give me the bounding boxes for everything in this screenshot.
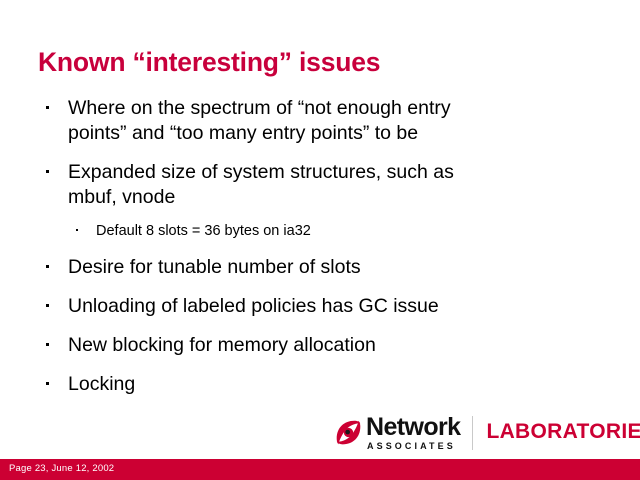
square-bullet-icon (46, 96, 49, 121)
square-bullet-icon (46, 255, 49, 280)
bullet-line: points” and “too many entry points” to b… (68, 121, 613, 146)
network-associates-wordmark: Network ASSOCIATES (366, 415, 460, 452)
bullet-text: Locking (68, 372, 613, 397)
bullet-item: Expanded size of system structures, such… (38, 160, 613, 210)
bullet-text: New blocking for memory allocation (68, 333, 613, 358)
bullet-item: Desire for tunable number of slots (38, 255, 613, 280)
footer-bar: Page 23, June 12, 2002 (0, 459, 640, 480)
bullet-line: mbuf, vnode (68, 185, 613, 210)
bullet-line: Desire for tunable number of slots (68, 255, 613, 280)
network-associates-swoosh-icon (335, 419, 362, 446)
sub-bullet-text: Default 8 slots = 36 bytes on ia32 (96, 223, 311, 239)
bullet-text: Desire for tunable number of slots (68, 255, 613, 280)
logo-divider (472, 416, 473, 450)
network-associates-logo: Network ASSOCIATES LABORATORIES (335, 412, 631, 454)
bullet-item: Where on the spectrum of “not enough ent… (38, 96, 613, 146)
square-bullet-icon (46, 160, 49, 185)
brand-word: Network (366, 415, 460, 440)
bullet-line: Locking (68, 372, 613, 397)
logo-division-label: LABORATORIES (486, 421, 640, 442)
bullet-item: New blocking for memory allocation (38, 333, 613, 358)
bullet-line: New blocking for memory allocation (68, 333, 613, 358)
bullet-item: Unloading of labeled policies has GC iss… (38, 294, 613, 319)
footer-page-info: Page 23, June 12, 2002 (9, 463, 114, 475)
sub-bullet-item: Default 8 slots = 36 bytes on ia32 (70, 221, 613, 241)
bullet-line: Expanded size of system structures, such… (68, 160, 613, 185)
bullet-text: Where on the spectrum of “not enough ent… (68, 96, 613, 146)
slide: Known “interesting” issues Where on the … (0, 0, 640, 480)
square-bullet-icon (46, 333, 49, 358)
bullet-line: Unloading of labeled policies has GC iss… (68, 294, 613, 319)
bullet-text: Expanded size of system structures, such… (68, 160, 613, 210)
bullet-text: Unloading of labeled policies has GC iss… (68, 294, 613, 319)
square-bullet-icon (46, 294, 49, 319)
square-bullet-icon (46, 372, 49, 397)
bullet-line: Where on the spectrum of “not enough ent… (68, 96, 613, 121)
page-title: Known “interesting” issues (38, 48, 608, 78)
slide-body: Where on the spectrum of “not enough ent… (38, 96, 613, 411)
square-bullet-icon (76, 221, 78, 241)
brand-subword: ASSOCIATES (366, 440, 460, 452)
bullet-item: Locking (38, 372, 613, 397)
